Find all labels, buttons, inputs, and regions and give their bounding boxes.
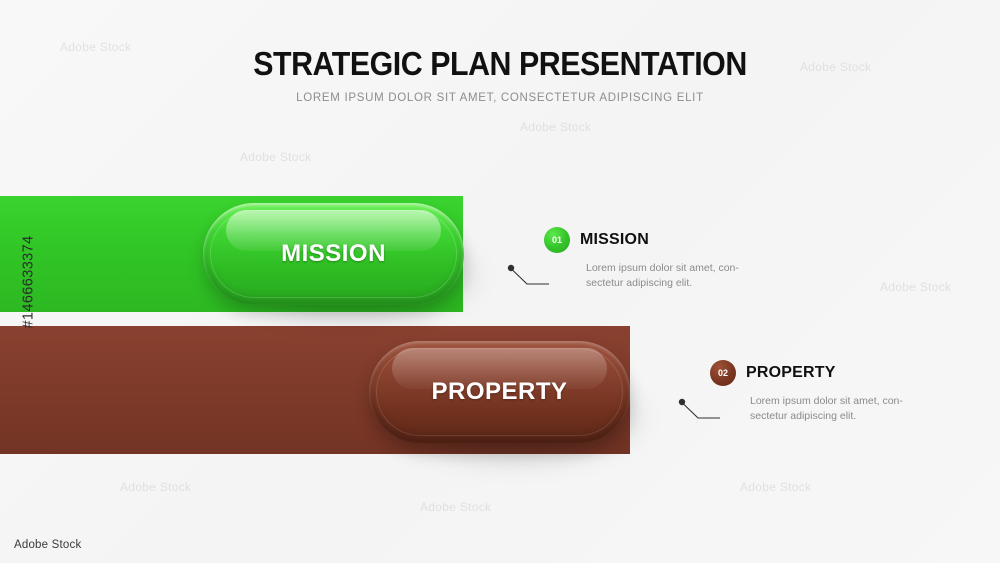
pill-property[interactable]: PROPERTY <box>369 341 630 443</box>
watermark-tile: Adobe Stock <box>240 150 311 164</box>
legend-header: 02 PROPERTY <box>710 360 928 386</box>
pill-property-label: PROPERTY <box>431 378 567 406</box>
legend-description-mission: Lorem ipsum dolor sit amet, con-sectetur… <box>586 261 764 291</box>
legend-badge-02: 02 <box>710 360 736 386</box>
watermark-tile: Adobe Stock <box>420 500 491 514</box>
legend-item-mission[interactable]: 01 MISSION Lorem ipsum dolor sit amet, c… <box>544 227 764 291</box>
watermark-tile: Adobe Stock <box>120 480 191 494</box>
legend-description-property: Lorem ipsum dolor sit amet, con-sectetur… <box>750 394 928 424</box>
page-subtitle: LOREM IPSUM DOLOR SIT AMET, CONSECTETUR … <box>0 92 1000 104</box>
watermark-side: #1466633374 <box>12 0 46 563</box>
watermark-tile: Adobe Stock <box>740 480 811 494</box>
watermark-tile: Adobe Stock <box>520 120 591 134</box>
page-title: STRATEGIC PLAN PRESENTATION <box>40 45 960 83</box>
legend-item-property[interactable]: 02 PROPERTY Lorem ipsum dolor sit amet, … <box>710 360 928 424</box>
legend-badge-01: 01 <box>544 227 570 253</box>
slide-canvas: Adobe Stock Adobe Stock Adobe Stock Adob… <box>0 0 1000 563</box>
pill-mission-label: MISSION <box>281 240 386 268</box>
legend-header: 01 MISSION <box>544 227 764 253</box>
legend-title-property: PROPERTY <box>746 364 836 382</box>
watermark-side-text: #1466633374 <box>21 235 37 328</box>
legend-title-mission: MISSION <box>580 231 649 249</box>
pill-mission[interactable]: MISSION <box>203 203 464 305</box>
watermark-bottom-text: Adobe Stock <box>14 539 81 551</box>
watermark-tile: Adobe Stock <box>880 280 951 294</box>
